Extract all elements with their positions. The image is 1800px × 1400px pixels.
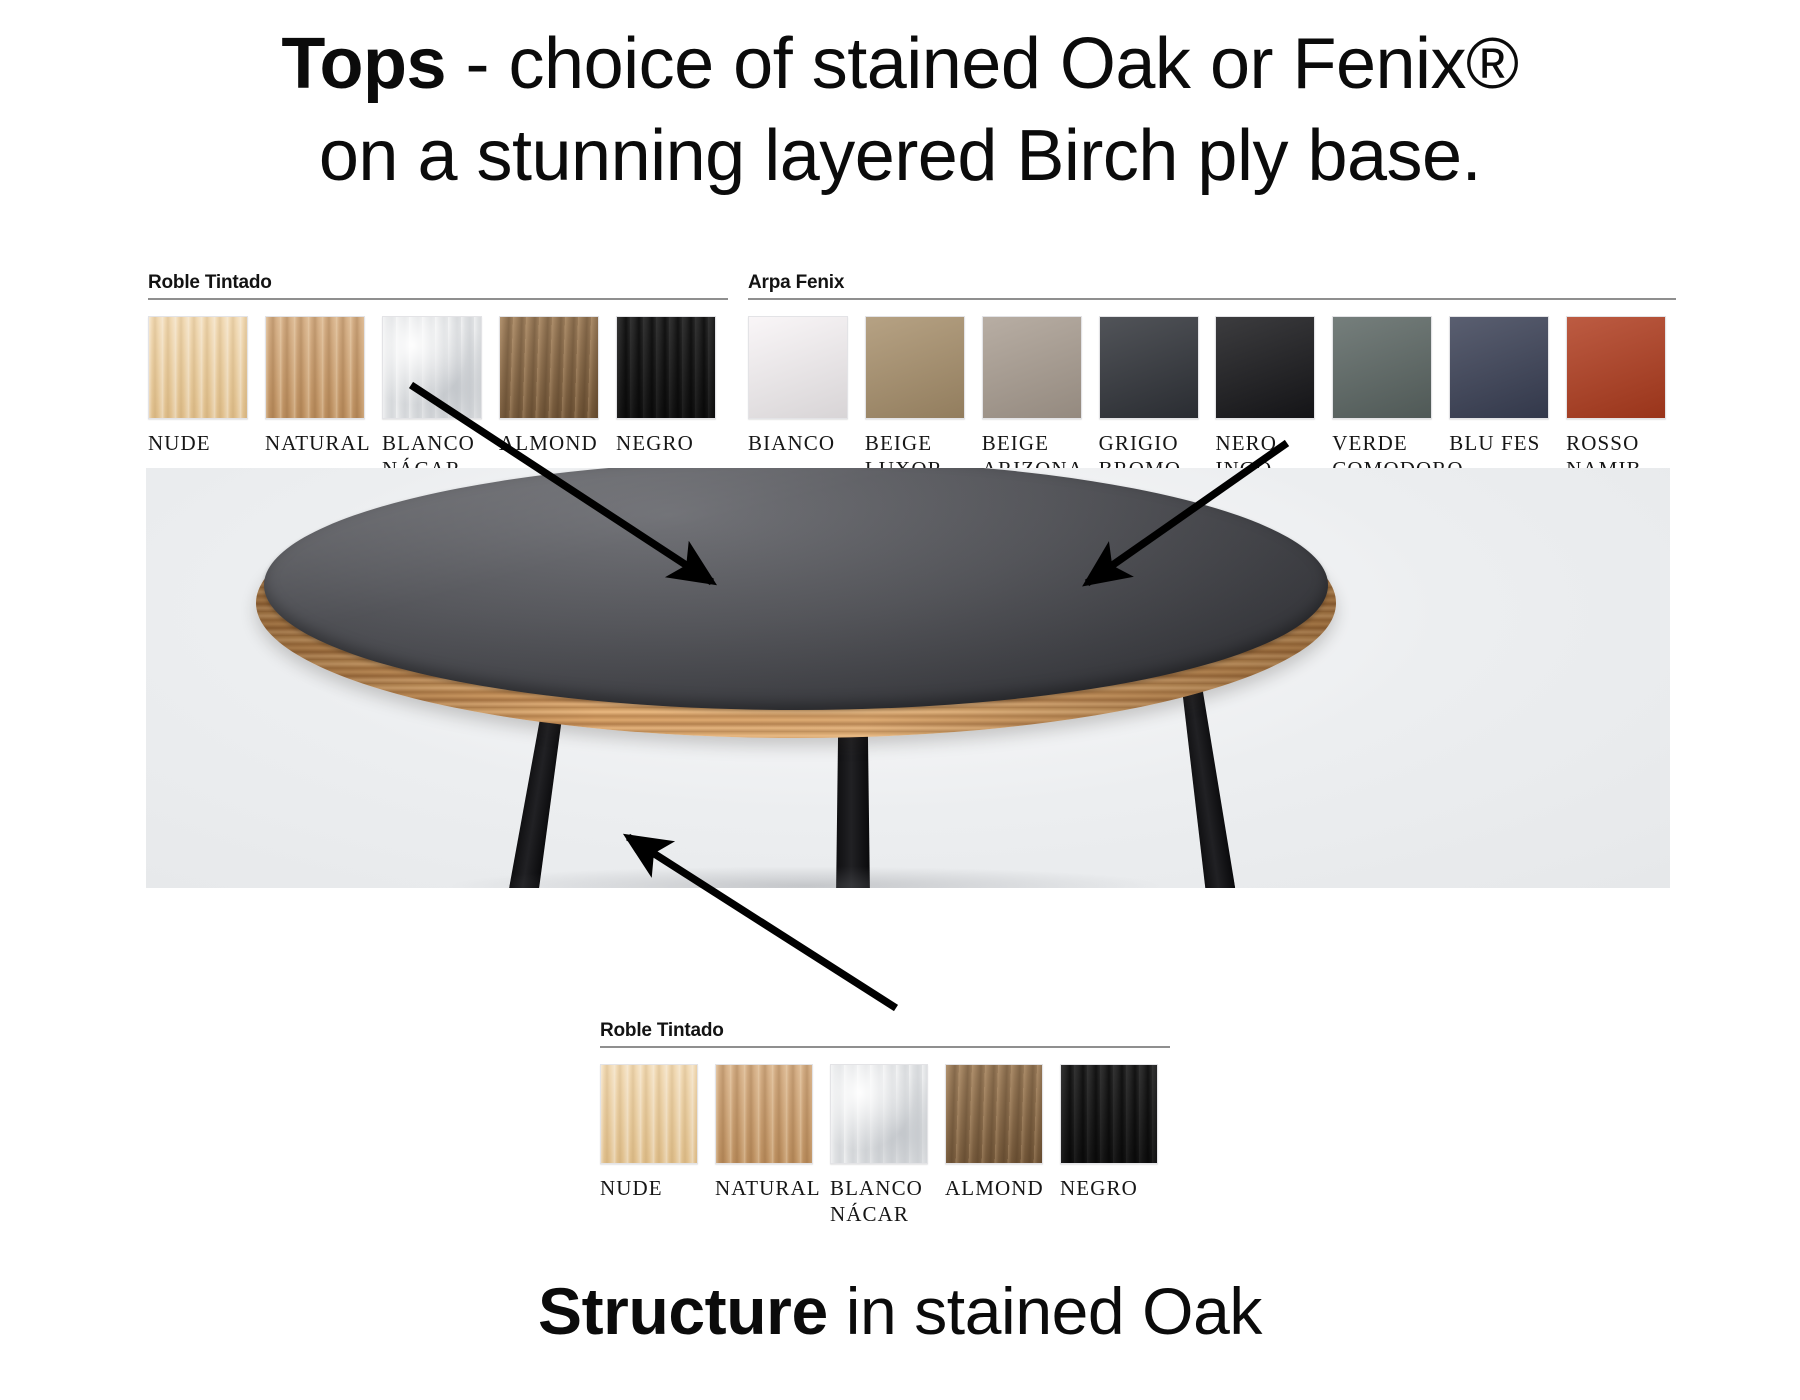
page-title: Tops - choice of stained Oak or Fenix® o… xyxy=(0,18,1800,202)
swatch-chip-natural[interactable] xyxy=(715,1064,813,1164)
swatch-chip-almond[interactable] xyxy=(945,1064,1043,1164)
swatch-chip-blanco-nacar[interactable] xyxy=(382,316,482,419)
swatch-chip-verde-comodoro[interactable] xyxy=(1332,316,1432,419)
divider xyxy=(148,298,728,300)
swatch-item-nero-ingo[interactable]: NERO INGO xyxy=(1215,316,1332,483)
product-photo-round-table xyxy=(146,468,1670,888)
page-title-line-1: Tops - choice of stained Oak or Fenix® xyxy=(0,18,1800,110)
swatch-item-natural[interactable]: NATURAL xyxy=(265,316,382,456)
swatch-row: NUDE NATURAL BLANCO NÁCAR ALMOND NEGRO xyxy=(148,316,728,483)
swatch-label-negro: NEGRO xyxy=(1060,1175,1138,1201)
swatch-chip-blanco-nacar[interactable] xyxy=(830,1064,928,1164)
swatch-item-blu-fes[interactable]: BLU FES xyxy=(1449,316,1566,456)
swatch-item-rosso-namib[interactable]: ROSSO NAMIB xyxy=(1566,316,1676,483)
divider xyxy=(748,298,1676,300)
swatch-item-negro[interactable]: NEGRO xyxy=(1060,1064,1170,1201)
swatch-item-verde-comodoro[interactable]: VERDE COMODORO xyxy=(1332,316,1449,483)
swatch-label-negro: NEGRO xyxy=(616,430,694,456)
swatch-chip-almond[interactable] xyxy=(499,316,599,419)
swatch-row: BIANCO BEIGE LUXOR BEIGE ARIZONA GRIGIO … xyxy=(748,316,1676,483)
swatch-group-title: Arpa Fenix xyxy=(748,272,1676,298)
swatch-label-bianco: BIANCO xyxy=(748,430,835,456)
table-top-sheen xyxy=(264,468,1328,710)
swatch-chip-beige-luxor[interactable] xyxy=(865,316,965,419)
swatch-chip-grigio-bromo[interactable] xyxy=(1099,316,1199,419)
page-caption-emphasis: Structure xyxy=(538,1274,828,1348)
swatch-label-natural: NATURAL xyxy=(265,430,371,456)
swatch-row: NUDE NATURAL BLANCO NÁCAR ALMOND NEGRO xyxy=(600,1064,1170,1228)
swatch-chip-beige-arizona[interactable] xyxy=(982,316,1082,419)
swatch-item-blanco-nacar[interactable]: BLANCO NÁCAR xyxy=(382,316,499,483)
swatch-group-title: Roble Tintado xyxy=(148,272,728,298)
swatch-item-beige-arizona[interactable]: BEIGE ARIZONA xyxy=(982,316,1099,483)
page-caption-rest: in stained Oak xyxy=(828,1274,1262,1348)
swatch-chip-nero-ingo[interactable] xyxy=(1215,316,1315,419)
swatch-chip-nude[interactable] xyxy=(148,316,248,419)
swatch-label-blanco-nacar: BLANCO NÁCAR xyxy=(830,1175,923,1228)
swatch-label-nude: NUDE xyxy=(600,1175,663,1201)
swatch-label-natural: NATURAL xyxy=(715,1175,821,1201)
swatch-chip-natural[interactable] xyxy=(265,316,365,419)
swatch-chip-bianco[interactable] xyxy=(748,316,848,419)
swatch-item-bianco[interactable]: BIANCO xyxy=(748,316,865,456)
swatch-group-arpa-fenix: Arpa Fenix BIANCO BEIGE LUXOR BEIGE ARIZ… xyxy=(748,272,1676,483)
page-title-line-2: on a stunning layered Birch ply base. xyxy=(0,110,1800,202)
swatch-group-title: Roble Tintado xyxy=(600,1020,1170,1046)
swatch-label-almond: ALMOND xyxy=(945,1175,1044,1201)
page-title-line-1-rest: - choice of stained Oak or Fenix® xyxy=(446,24,1519,104)
swatch-item-almond[interactable]: ALMOND xyxy=(499,316,616,456)
divider xyxy=(600,1046,1170,1048)
swatch-chip-negro[interactable] xyxy=(1060,1064,1158,1164)
page-title-emphasis: Tops xyxy=(281,24,446,104)
swatch-chip-nude[interactable] xyxy=(600,1064,698,1164)
swatch-group-roble-tintado-tops: Roble Tintado NUDE NATURAL BLANCO NÁCAR … xyxy=(148,272,728,483)
swatch-item-grigio-bromo[interactable]: GRIGIO BROMO xyxy=(1099,316,1216,483)
swatch-item-nude[interactable]: NUDE xyxy=(600,1064,715,1201)
table-top-surface xyxy=(264,468,1328,710)
swatch-item-beige-luxor[interactable]: BEIGE LUXOR xyxy=(865,316,982,483)
swatch-item-blanco-nacar[interactable]: BLANCO NÁCAR xyxy=(830,1064,945,1228)
swatch-chip-rosso-namib[interactable] xyxy=(1566,316,1666,419)
swatch-item-natural[interactable]: NATURAL xyxy=(715,1064,830,1201)
page-caption: Structure in stained Oak xyxy=(0,1272,1800,1351)
swatch-group-roble-tintado-structure: Roble Tintado NUDE NATURAL BLANCO NÁCAR … xyxy=(600,1020,1170,1228)
swatch-item-negro[interactable]: NEGRO xyxy=(616,316,728,456)
swatch-item-nude[interactable]: NUDE xyxy=(148,316,265,456)
swatch-label-almond: ALMOND xyxy=(499,430,598,456)
swatch-label-blu-fes: BLU FES xyxy=(1449,430,1540,456)
swatch-chip-negro[interactable] xyxy=(616,316,716,419)
swatch-chip-blu-fes[interactable] xyxy=(1449,316,1549,419)
swatch-item-almond[interactable]: ALMOND xyxy=(945,1064,1060,1201)
swatch-label-nude: NUDE xyxy=(148,430,211,456)
